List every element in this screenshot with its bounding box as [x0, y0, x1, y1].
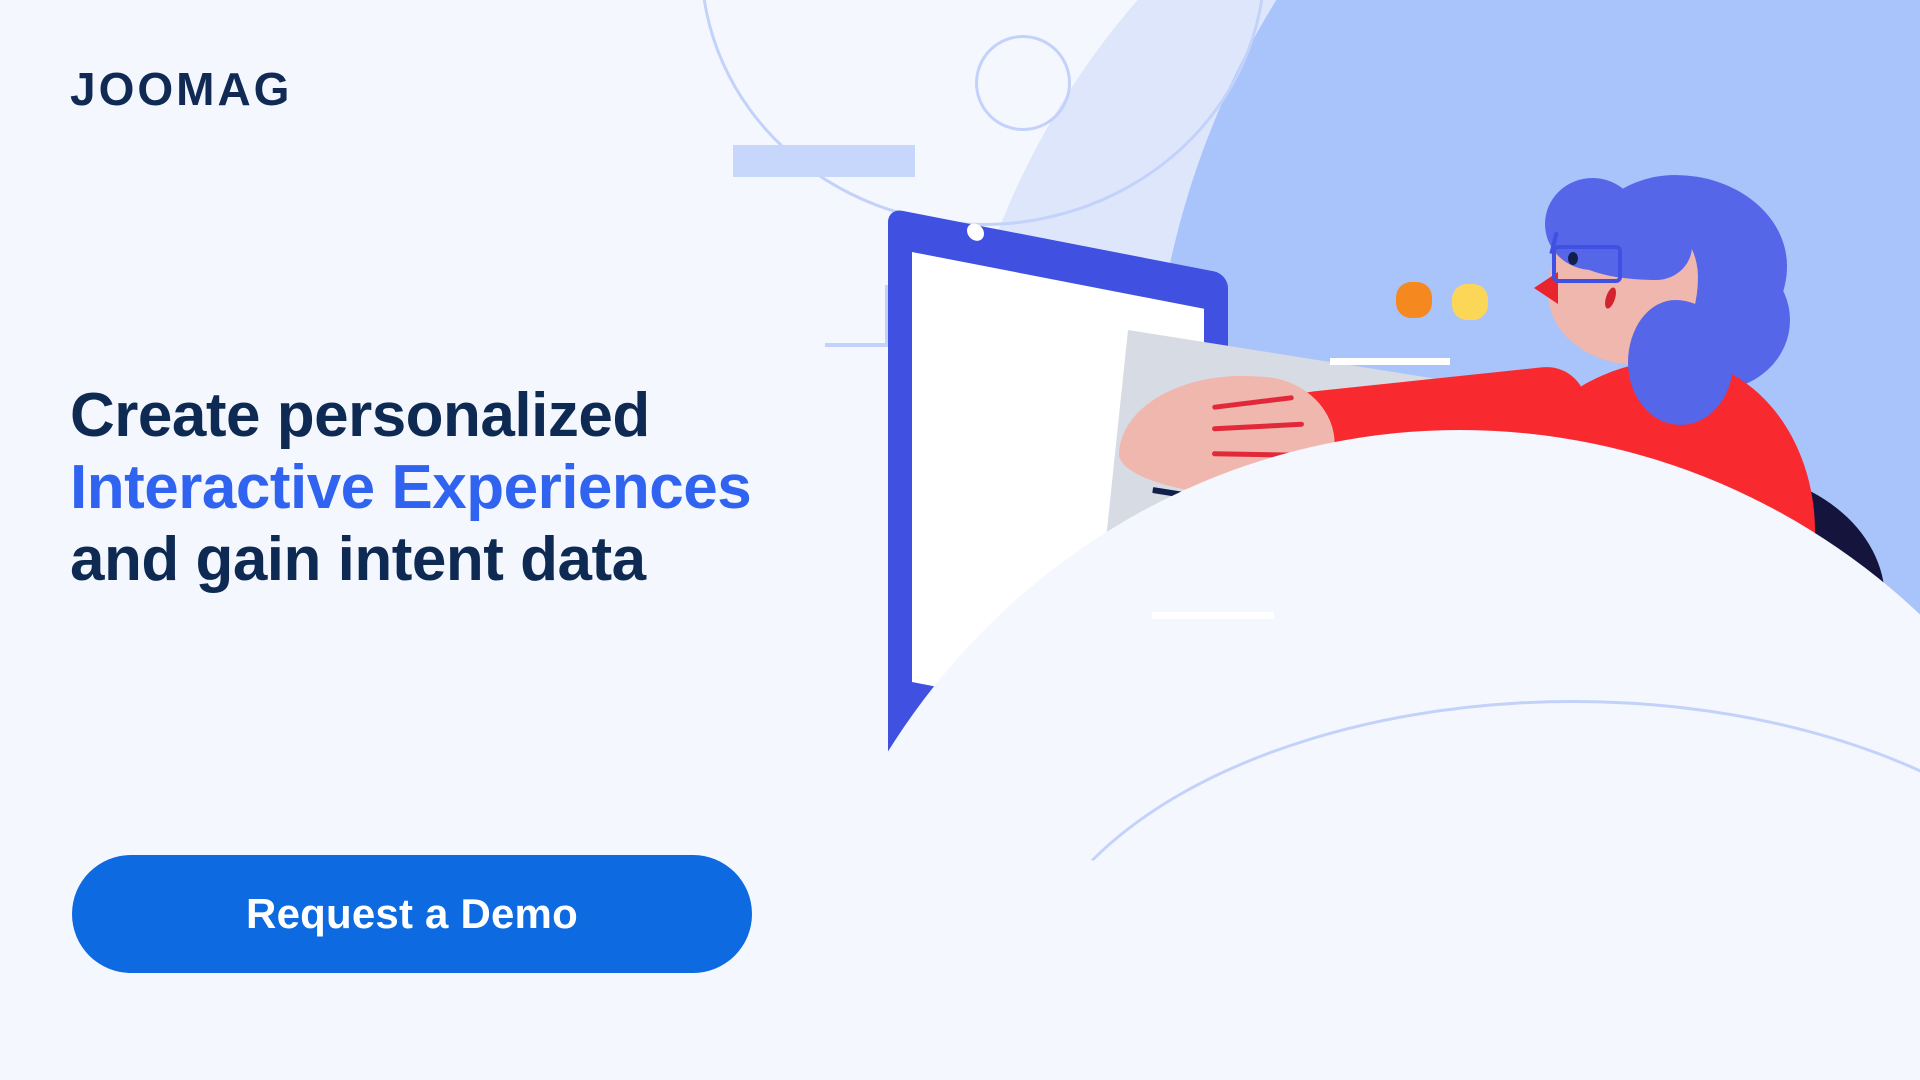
character-eye [1568, 252, 1578, 265]
joomag-logo: JOOMAG [70, 62, 292, 116]
checklist-checkbox-3 [1284, 602, 1314, 632]
glasses-icon [1552, 245, 1622, 283]
background-thin-curve-top [700, 0, 1266, 226]
headline-line-3: and gain intent data [70, 524, 970, 596]
request-demo-button[interactable]: Request a Demo [72, 855, 752, 973]
dot-orange-icon [1396, 282, 1432, 318]
character-shoe-back-sole [1739, 1029, 1920, 1080]
background-loop-circle [975, 35, 1071, 131]
card-top-line [1330, 358, 1450, 365]
dot-yellow-icon [1452, 284, 1488, 320]
hero-banner: JOOMAG Create personalized Interactive E… [0, 0, 1920, 1080]
card-bottom-line [1152, 612, 1274, 619]
headline-line-1: Create personalized [70, 380, 970, 452]
background-bar-shape [733, 145, 915, 177]
checklist-checkbox-2 [1284, 543, 1314, 573]
character-hair-side [1628, 300, 1733, 425]
headline-line-2: Interactive Experiences [70, 452, 970, 524]
page-title: Create personalized Interactive Experien… [70, 380, 970, 596]
